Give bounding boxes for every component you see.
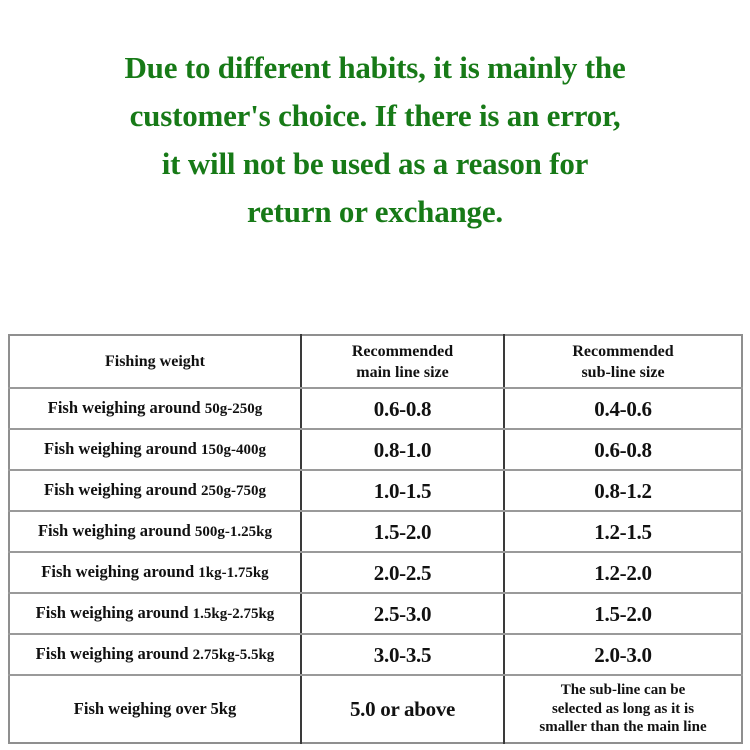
table-header-row: Fishing weight Recommended main line siz… bbox=[9, 335, 742, 388]
notice-line-4: return or exchange. bbox=[0, 188, 750, 236]
note-line-1: The sub-line can be bbox=[509, 681, 737, 700]
weight-prefix: Fish weighing around bbox=[36, 644, 193, 663]
table-row: Fish weighing over 5kg 5.0 or above The … bbox=[9, 675, 742, 743]
note-line-2: selected as long as it is bbox=[509, 700, 737, 719]
cell-sub-line-size: 0.6-0.8 bbox=[504, 429, 742, 470]
header-fishing-weight: Fishing weight bbox=[9, 335, 301, 388]
cell-fishing-weight: Fish weighing around 1.5kg-2.75kg bbox=[9, 593, 301, 634]
header-main-line-l2: main line size bbox=[306, 362, 499, 383]
cell-fishing-weight: Fish weighing around 50g-250g bbox=[9, 388, 301, 429]
header-fishing-weight-label: Fishing weight bbox=[105, 353, 205, 370]
weight-range: 1.5kg-2.75kg bbox=[193, 606, 275, 622]
weight-range: 50g-250g bbox=[205, 401, 263, 417]
weight-prefix: Fish weighing around bbox=[44, 439, 201, 458]
weight-prefix: Fish weighing around bbox=[38, 521, 195, 540]
size-guide-page: Due to different habits, it is mainly th… bbox=[0, 0, 750, 750]
weight-range: 1kg-1.75kg bbox=[198, 565, 268, 581]
cell-fishing-weight: Fish weighing around 500g-1.25kg bbox=[9, 511, 301, 552]
cell-sub-line-size: 1.2-1.5 bbox=[504, 511, 742, 552]
cell-fishing-weight: Fish weighing around 150g-400g bbox=[9, 429, 301, 470]
notice-line-2: customer's choice. If there is an error, bbox=[0, 92, 750, 140]
cell-sub-line-size: 1.5-2.0 bbox=[504, 593, 742, 634]
table-row: Fish weighing around 250g-750g 1.0-1.5 0… bbox=[9, 470, 742, 511]
weight-prefix: Fish weighing around bbox=[44, 480, 201, 499]
cell-main-line-size: 0.8-1.0 bbox=[301, 429, 504, 470]
weight-prefix: Fish weighing around bbox=[48, 398, 205, 417]
cell-fishing-weight: Fish weighing around 1kg-1.75kg bbox=[9, 552, 301, 593]
cell-main-line-size: 1.0-1.5 bbox=[301, 470, 504, 511]
notice-line-1: Due to different habits, it is mainly th… bbox=[0, 44, 750, 92]
cell-sub-line-size: 0.4-0.6 bbox=[504, 388, 742, 429]
notice-line-3: it will not be used as a reason for bbox=[0, 140, 750, 188]
weight-range: 500g-1.25kg bbox=[195, 524, 272, 540]
weight-prefix: Fish weighing around bbox=[41, 562, 198, 581]
weight-range: 250g-750g bbox=[201, 483, 266, 499]
line-size-table: Fishing weight Recommended main line siz… bbox=[8, 334, 743, 744]
cell-fishing-weight: Fish weighing around 250g-750g bbox=[9, 470, 301, 511]
cell-main-line-size: 0.6-0.8 bbox=[301, 388, 504, 429]
header-sub-line-l1: Recommended bbox=[572, 343, 673, 360]
weight-range: 150g-400g bbox=[201, 442, 266, 458]
table-row: Fish weighing around 50g-250g 0.6-0.8 0.… bbox=[9, 388, 742, 429]
table-row: Fish weighing around 2.75kg-5.5kg 3.0-3.… bbox=[9, 634, 742, 675]
return-policy-notice: Due to different habits, it is mainly th… bbox=[0, 44, 750, 236]
header-sub-line-l2: sub-line size bbox=[509, 362, 737, 383]
cell-main-line-size: 5.0 or above bbox=[301, 675, 504, 743]
cell-sub-line-size: 1.2-2.0 bbox=[504, 552, 742, 593]
weight-range: 2.75kg-5.5kg bbox=[193, 647, 275, 663]
cell-sub-line-note: The sub-line can be selected as long as … bbox=[504, 675, 742, 743]
table-row: Fish weighing around 500g-1.25kg 1.5-2.0… bbox=[9, 511, 742, 552]
table-row: Fish weighing around 150g-400g 0.8-1.0 0… bbox=[9, 429, 742, 470]
header-main-line-size: Recommended main line size bbox=[301, 335, 504, 388]
table-row: Fish weighing around 1kg-1.75kg 2.0-2.5 … bbox=[9, 552, 742, 593]
cell-main-line-size: 2.0-2.5 bbox=[301, 552, 504, 593]
header-main-line-l1: Recommended bbox=[352, 343, 453, 360]
cell-main-line-size: 2.5-3.0 bbox=[301, 593, 504, 634]
weight-prefix: Fish weighing around bbox=[36, 603, 193, 622]
header-sub-line-size: Recommended sub-line size bbox=[504, 335, 742, 388]
cell-main-line-size: 1.5-2.0 bbox=[301, 511, 504, 552]
cell-fishing-weight: Fish weighing around 2.75kg-5.5kg bbox=[9, 634, 301, 675]
note-line-3: smaller than the main line bbox=[509, 718, 737, 737]
cell-fishing-weight: Fish weighing over 5kg bbox=[9, 675, 301, 743]
table-row: Fish weighing around 1.5kg-2.75kg 2.5-3.… bbox=[9, 593, 742, 634]
cell-sub-line-size: 0.8-1.2 bbox=[504, 470, 742, 511]
cell-sub-line-size: 2.0-3.0 bbox=[504, 634, 742, 675]
cell-main-line-size: 3.0-3.5 bbox=[301, 634, 504, 675]
